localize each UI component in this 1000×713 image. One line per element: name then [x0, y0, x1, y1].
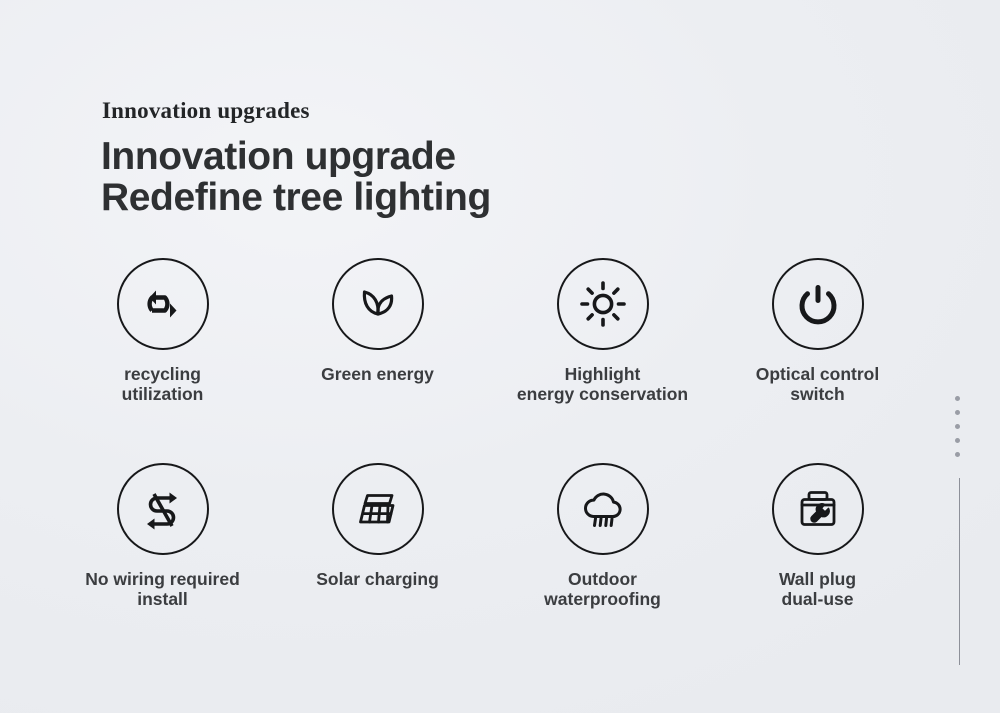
caption-line-1: Outdoor [544, 569, 661, 589]
power-switch-icon [772, 258, 864, 350]
caption-line-1: Optical control [756, 364, 879, 384]
eyebrow-title: Innovation upgrades [102, 98, 310, 124]
caption-line-1: Green energy [321, 364, 434, 384]
feature-item-optical-control[interactable]: Optical control switch [715, 258, 920, 463]
slide-dot[interactable] [955, 438, 960, 443]
caption-line-2: install [85, 589, 240, 609]
feature-caption: Solar charging [316, 569, 439, 589]
promo-banner: Innovation upgrades Innovation upgrade R… [0, 0, 1000, 713]
vertical-divider-line [959, 478, 960, 665]
feature-item-highlight[interactable]: Highlight energy conservation [490, 258, 715, 463]
slide-dot[interactable] [955, 424, 960, 429]
feature-item-waterproofing[interactable]: Outdoor waterproofing [490, 463, 715, 609]
feature-caption: Wall plug dual-use [779, 569, 856, 609]
caption-line-1: Wall plug [779, 569, 856, 589]
caption-line-2: utilization [122, 384, 204, 404]
headline-line-2: Redefine tree lighting [101, 177, 491, 218]
slide-dot[interactable] [955, 396, 960, 401]
caption-line-1: Highlight [517, 364, 688, 384]
slide-dot[interactable] [955, 410, 960, 415]
headline-line-1: Innovation upgrade [101, 135, 456, 178]
feature-item-wall-plug[interactable]: Wall plug dual-use [715, 463, 920, 609]
slide-indicator-dots[interactable] [955, 396, 963, 466]
slide-dot[interactable] [955, 452, 960, 457]
feature-caption: Green energy [321, 364, 434, 384]
solar-panel-icon [332, 463, 424, 555]
cloud-rain-icon [557, 463, 649, 555]
feature-grid: recycling utilization Green energy [60, 258, 920, 609]
toolbox-wrench-icon [772, 463, 864, 555]
recycling-loop-icon [117, 258, 209, 350]
crossed-arrows-no-wiring-icon [117, 463, 209, 555]
feature-caption: recycling utilization [122, 364, 204, 404]
feature-item-green-energy[interactable]: Green energy [265, 258, 490, 463]
feature-row-2: No wiring required install [60, 463, 920, 609]
feature-caption: No wiring required install [85, 569, 240, 609]
caption-line-1: No wiring required [85, 569, 240, 589]
feature-item-recycling[interactable]: recycling utilization [60, 258, 265, 463]
caption-line-2: energy conservation [517, 384, 688, 404]
caption-line-2: waterproofing [544, 589, 661, 609]
page-title: Innovation upgrade Redefine tree lightin… [101, 136, 491, 218]
feature-item-solar-charging[interactable]: Solar charging [265, 463, 490, 609]
caption-line-2: dual-use [779, 589, 856, 609]
feature-caption: Highlight energy conservation [517, 364, 688, 404]
sun-brightness-icon [557, 258, 649, 350]
feature-caption: Outdoor waterproofing [544, 569, 661, 609]
caption-line-1: recycling [122, 364, 204, 384]
feature-item-no-wiring[interactable]: No wiring required install [60, 463, 265, 609]
leaves-icon [332, 258, 424, 350]
feature-row-1: recycling utilization Green energy [60, 258, 920, 463]
caption-line-1: Solar charging [316, 569, 439, 589]
caption-line-2: switch [756, 384, 879, 404]
feature-caption: Optical control switch [756, 364, 879, 404]
